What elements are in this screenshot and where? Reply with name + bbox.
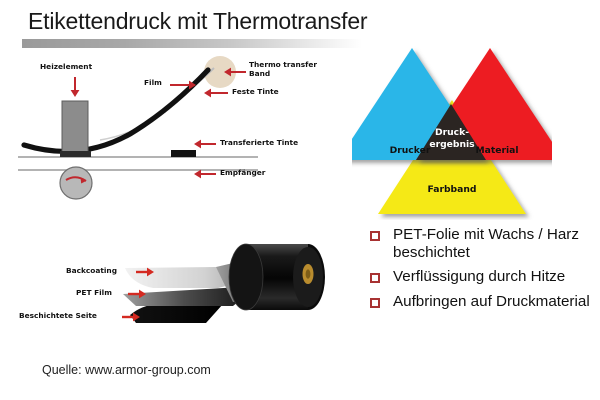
platen-roller: [60, 167, 92, 199]
title-divider-bar: [22, 39, 362, 48]
transferred-ink-block: [171, 150, 196, 157]
roll-core-hole: [306, 269, 311, 278]
list-item-label: Verflüssigung durch Hitze: [393, 268, 565, 286]
label-heating-element: Heizelement: [40, 63, 92, 72]
coated-side-layer: [130, 304, 223, 323]
ribbon-structure-graphic: [18, 222, 348, 352]
label-receiver: Empfänger: [220, 169, 265, 178]
slide-canvas: Etikettendruck mit Thermotransfer: [0, 0, 600, 400]
feature-bullet-list: PET-Folie mit Wachs / Harz beschichtet V…: [370, 226, 594, 318]
heating-element-block: [62, 101, 88, 153]
label-coated-side: Beschichtete Seite: [19, 312, 97, 321]
label-pet-film: PET Film: [76, 289, 112, 298]
label-transferred-ink: Transferierte Tinte: [220, 139, 298, 148]
triangle-label-print-result-line2: ergebnis: [429, 139, 474, 150]
label-backcoating: Backcoating: [66, 267, 117, 276]
label-solid-ink: Feste Tinte: [232, 88, 279, 97]
triangle-venn-diagram: Drucker Material Farbband Druck- ergebni…: [352, 44, 552, 220]
receiver-arrowhead: [194, 170, 201, 179]
roll-near-end: [229, 244, 263, 310]
triangle-label-ribbon: Farbband: [420, 184, 484, 195]
square-bullet-icon: [370, 273, 380, 283]
source-credit: Quelle: www.armor-group.com: [42, 363, 211, 377]
list-item-label: Aufbringen auf Druckmaterial: [393, 293, 590, 311]
transferred-ink-arrowhead: [194, 140, 201, 149]
label-thermo-transfer-band-line2: Band: [249, 69, 270, 78]
page-title: Etikettendruck mit Thermotransfer: [28, 8, 367, 35]
list-item: Aufbringen auf Druckmaterial: [370, 293, 594, 311]
solid-ink-arrowhead: [204, 89, 211, 98]
square-bullet-icon: [370, 298, 380, 308]
heating-element-tip: [60, 151, 91, 157]
thermal-transfer-diagram: Heizelement Film Thermo transfer Band Fe…: [18, 50, 363, 210]
ink-ribbon-path: [24, 70, 208, 151]
label-thermo-transfer-band: Thermo transfer Band: [249, 61, 317, 78]
heating-element-arrowhead: [71, 90, 80, 97]
triangle-label-print-result-line1: Druck-: [435, 127, 469, 138]
ribbon-structure-diagram: Backcoating PET Film Beschichtete Seite: [18, 222, 348, 352]
triangle-label-print-result: Druck- ergebnis: [420, 127, 484, 150]
square-bullet-icon: [370, 231, 380, 241]
label-film: Film: [144, 79, 162, 88]
list-item: PET-Folie mit Wachs / Harz beschichtet: [370, 226, 594, 261]
list-item: Verflüssigung durch Hitze: [370, 268, 594, 286]
list-item-label: PET-Folie mit Wachs / Harz beschichtet: [393, 226, 594, 261]
